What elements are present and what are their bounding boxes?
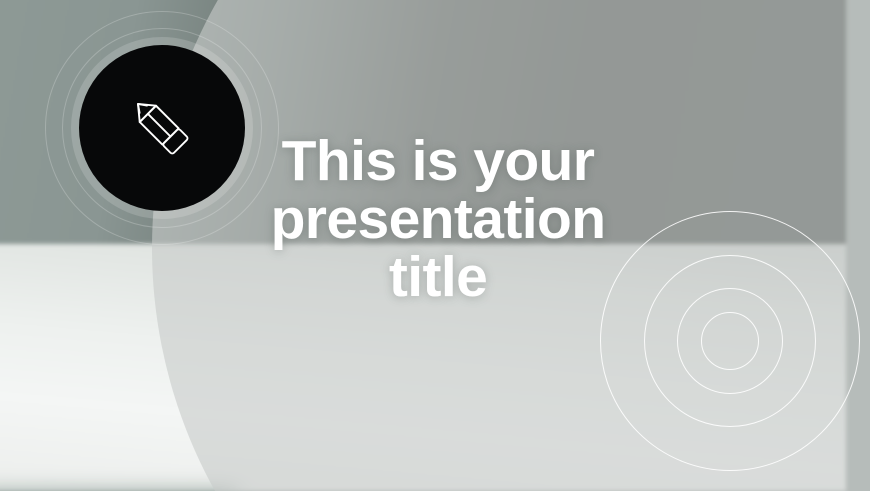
title-line-3: title bbox=[248, 248, 628, 306]
slide-title: This is your presentation title bbox=[248, 132, 628, 306]
title-line-2: presentation bbox=[248, 190, 628, 248]
pencil-icon bbox=[79, 45, 245, 211]
presentation-title-slide: This is your presentation title bbox=[0, 0, 870, 491]
title-line-1: This is your bbox=[248, 132, 628, 190]
